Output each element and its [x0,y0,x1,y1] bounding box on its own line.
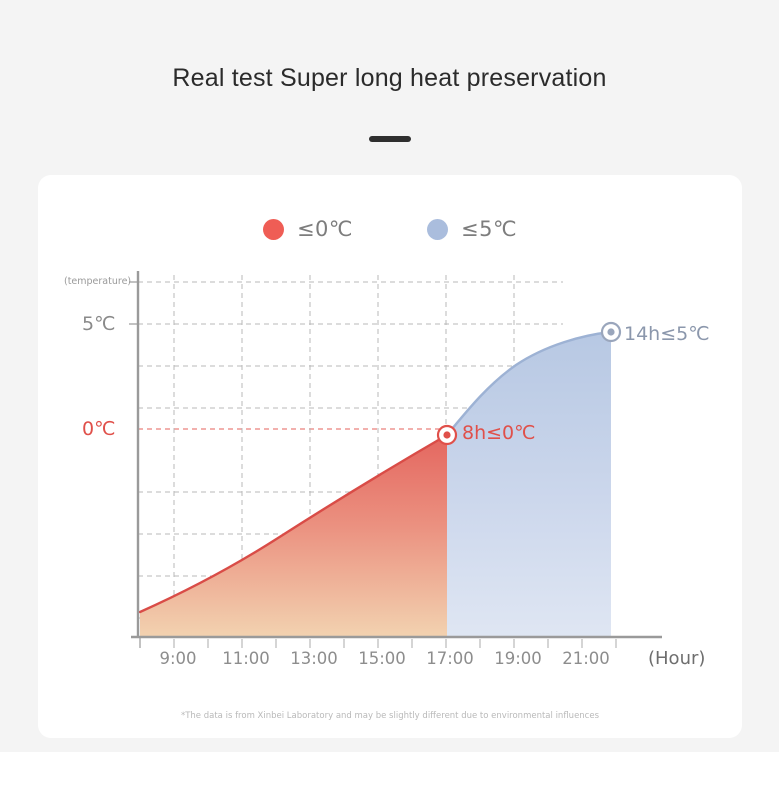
x-tick-label-2: 13:00 [290,649,338,668]
y-tick-label-0c: 0℃ [82,418,115,440]
x-axis-tick-labels: 9:00 11:00 13:00 15:00 17:00 19:00 21:00 [38,649,742,671]
series-area-below-5c [447,332,611,637]
annotation-label-8h: 8h≤0℃ [462,422,535,444]
x-tick-label-1: 11:00 [222,649,270,668]
x-tick-label-4: 17:00 [426,649,474,668]
annotation-marker-14h[interactable] [602,323,620,341]
title-divider [369,136,411,142]
x-tick-label-6: 21:00 [562,649,610,668]
x-tick-label-0: 9:00 [159,649,196,668]
chart-footnote: *The data is from Xinbei Laboratory and … [38,711,742,721]
annotation-label-14h: 14h≤5℃ [624,323,710,345]
x-tick-label-5: 19:00 [494,649,542,668]
y-axis-title: (temperature) [64,276,131,287]
y-tick-label-5c: 5℃ [82,313,115,335]
chart-card: ≤0℃ ≤5℃ [38,175,742,738]
series-area-below-0c [140,435,447,637]
x-tick-label-3: 15:00 [358,649,406,668]
page-title: Real test Super long heat preservation [0,64,779,93]
x-axis-title: (Hour) [648,648,705,669]
annotation-marker-8h[interactable] [438,426,456,444]
x-axis-ticks [140,637,616,648]
y-axis-ticks [129,282,138,324]
